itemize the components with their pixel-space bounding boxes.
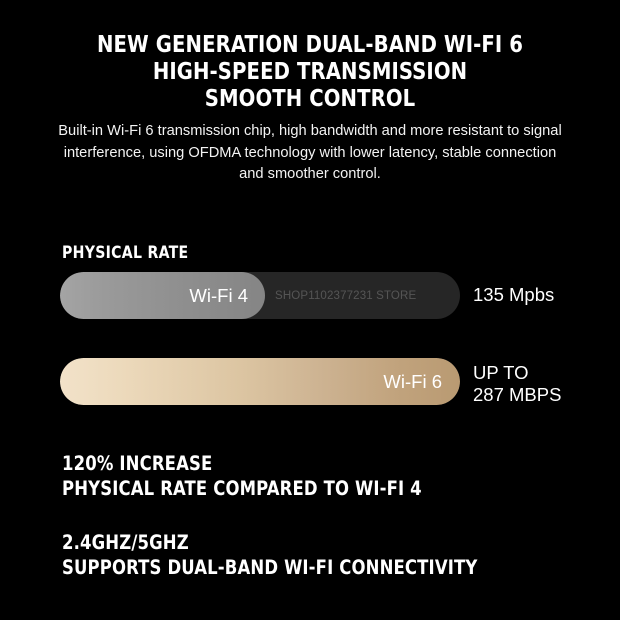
rate-bar-track-wifi6: Wi-Fi 6 xyxy=(60,358,460,405)
callout-dual-band-line-1: 2.4GHZ/5GHZ xyxy=(62,530,477,555)
rate-bar-row-wifi4: SHOP1102377231 STORE Wi-Fi 4 xyxy=(60,272,460,319)
store-watermark: SHOP1102377231 STORE xyxy=(275,272,416,319)
rate-bar-value-wifi6: UP TO 287 MBPS xyxy=(473,362,561,406)
description-line-3: and smoother control. xyxy=(32,163,588,185)
page-title-line-2: HIGH-SPEED TRANSMISSION xyxy=(22,58,599,85)
description-paragraph: Built-in Wi-Fi 6 transmission chip, high… xyxy=(32,120,588,185)
callout-dual-band-line-2: SUPPORTS DUAL-BAND WI-FI CONNECTIVITY xyxy=(62,555,477,580)
page-title-line-1: NEW GENERATION DUAL-BAND WI-FI 6 xyxy=(22,31,599,58)
callout-increase-line-1: 120% INCREASE xyxy=(62,451,422,476)
rate-bar-track-wifi4: SHOP1102377231 STORE Wi-Fi 4 xyxy=(60,272,460,319)
rate-bar-row-wifi6: Wi-Fi 6 xyxy=(60,358,460,405)
rate-bar-value-wifi4-line-1: 135 Mpbs xyxy=(473,284,554,306)
rate-bar-value-wifi4: 135 Mpbs xyxy=(473,284,554,306)
rate-bar-value-wifi6-line-2: 287 MBPS xyxy=(473,384,561,406)
rate-bar-value-wifi6-line-1: UP TO xyxy=(473,362,561,384)
description-line-1: Built-in Wi-Fi 6 transmission chip, high… xyxy=(32,120,588,142)
description-line-2: interference, using OFDMA technology wit… xyxy=(32,142,588,164)
rate-bar-caption-wifi4: Wi-Fi 4 xyxy=(60,272,265,319)
rate-bar-caption-wifi6: Wi-Fi 6 xyxy=(60,358,460,405)
promo-banner: NEW GENERATION DUAL-BAND WI-FI 6 HIGH-SP… xyxy=(0,0,620,620)
callout-increase-line-2: PHYSICAL RATE COMPARED TO WI-FI 4 xyxy=(62,476,422,501)
callout-dual-band: 2.4GHZ/5GHZ SUPPORTS DUAL-BAND WI-FI CON… xyxy=(62,530,477,580)
page-title: NEW GENERATION DUAL-BAND WI-FI 6 HIGH-SP… xyxy=(22,31,599,112)
page-title-line-3: SMOOTH CONTROL xyxy=(22,85,599,112)
physical-rate-label: PHYSICAL RATE xyxy=(62,243,188,262)
callout-increase: 120% INCREASE PHYSICAL RATE COMPARED TO … xyxy=(62,451,422,501)
